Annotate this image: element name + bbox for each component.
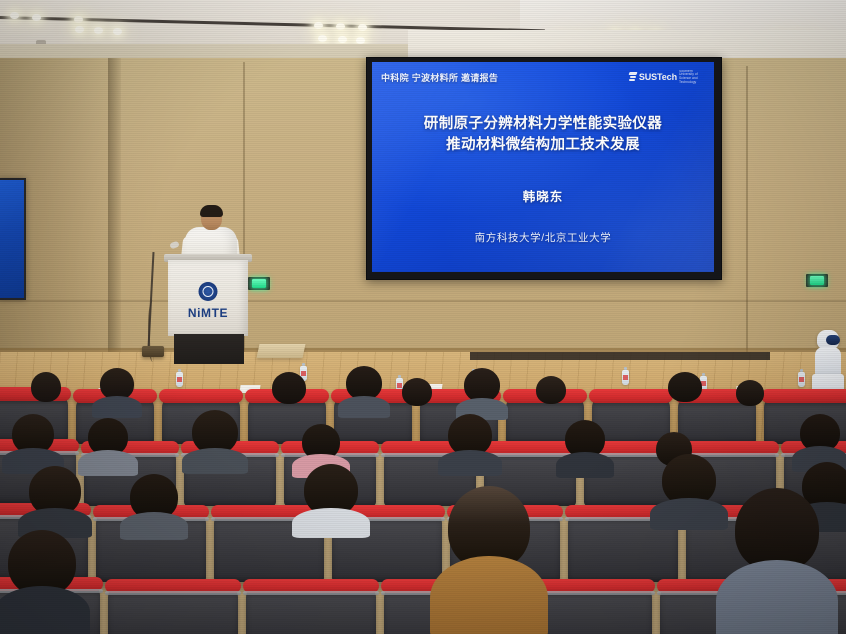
slide-speaker-affiliation: 南方科技大学/北京工业大学: [372, 230, 714, 245]
ceiling-spotlight: [94, 27, 103, 34]
ceiling-spotlight: [10, 12, 19, 19]
stage-backdrop-strip: [470, 352, 770, 360]
audience-member: [182, 410, 248, 464]
ceiling-panel: [520, 0, 846, 34]
audience-member: [120, 474, 188, 530]
microphone-base: [142, 346, 164, 357]
audience-member: [264, 372, 314, 412]
sustech-wordmark: SUSTech: [639, 72, 677, 82]
projection-screen: 中科院 宁波材料所 邀请报告 SUSTech Southern Universi…: [372, 62, 714, 272]
exit-sign-icon: [252, 279, 266, 288]
audience-member: [456, 368, 508, 412]
wall-seam: [746, 66, 748, 352]
ceiling-spotlight: [358, 24, 367, 31]
ceiling-spotlight: [113, 28, 122, 35]
podium-front-panel: NiMTE: [168, 260, 248, 336]
slide-title: 研制原子分辨材料力学性能实验仪器 推动材料微结构加工技术发展: [372, 114, 714, 156]
audience-member: [716, 488, 838, 634]
service-robot: [812, 330, 844, 396]
audience-member: [18, 466, 92, 526]
audience-member: [2, 414, 64, 464]
ceiling-spotlight: [74, 16, 83, 23]
audience-member: [792, 414, 846, 462]
robot-body: [815, 347, 841, 377]
water-bottle: [798, 372, 805, 387]
audience-member: [292, 464, 370, 528]
audience-member: [430, 486, 548, 634]
side-display-monitor[interactable]: [0, 178, 26, 300]
exit-sign-right: [806, 274, 828, 287]
water-bottle: [176, 372, 183, 387]
audience-member: [0, 530, 90, 634]
podium-logo-text: NiMTE: [168, 306, 248, 320]
sustech-mark-icon: [629, 72, 637, 82]
auditorium-seat: [108, 588, 238, 634]
audience-member: [78, 418, 138, 466]
podium-base: [174, 334, 244, 364]
ceiling-spotlight: [32, 14, 41, 21]
floor-box: [257, 344, 306, 358]
ceiling-spotlight: [318, 35, 327, 42]
slide-title-line-2: 推动材料微结构加工技术发展: [372, 135, 714, 156]
wall-seam: [0, 300, 846, 302]
podium: NiMTE: [168, 254, 248, 364]
audience-member: [92, 368, 142, 410]
slide-title-line-1: 研制原子分辨材料力学性能实验仪器: [372, 114, 714, 135]
audience-member: [528, 376, 574, 412]
audience-member: [394, 378, 440, 414]
water-bottle: [622, 370, 629, 385]
nimte-emblem-icon: [199, 282, 218, 301]
sustech-subtitle: Southern University of Science and Techn…: [679, 70, 705, 84]
slide-header: 中科院 宁波材料所 邀请报告 SUSTech Southern Universi…: [372, 62, 714, 92]
ceiling-spotlight: [314, 22, 323, 29]
audience-member: [24, 372, 68, 408]
slide-header-text: 中科院 宁波材料所 邀请报告: [381, 71, 498, 84]
wall-column: [108, 58, 121, 358]
presenter-hair: [200, 205, 223, 217]
auditorium-seat: [246, 588, 376, 634]
exit-sign-icon: [810, 276, 824, 285]
ceiling-spotlight: [338, 36, 347, 43]
lecture-hall-photo: 中科院 宁波材料所 邀请报告 SUSTech Southern Universi…: [0, 0, 846, 634]
ceiling-spotlight: [336, 23, 345, 30]
robot-face-screen: [826, 335, 840, 345]
audience-member: [556, 420, 614, 468]
ceiling-spotlight: [356, 37, 365, 44]
slide-speaker-name: 韩晓东: [372, 186, 714, 205]
audience-member: [660, 372, 710, 412]
audience-member: [728, 380, 772, 414]
ceiling-spotlight: [75, 26, 84, 33]
audience-member: [338, 366, 390, 410]
exit-sign-left: [248, 277, 270, 290]
audience-member: [438, 414, 502, 466]
sustech-logo: SUSTech Southern University of Science a…: [629, 70, 705, 84]
